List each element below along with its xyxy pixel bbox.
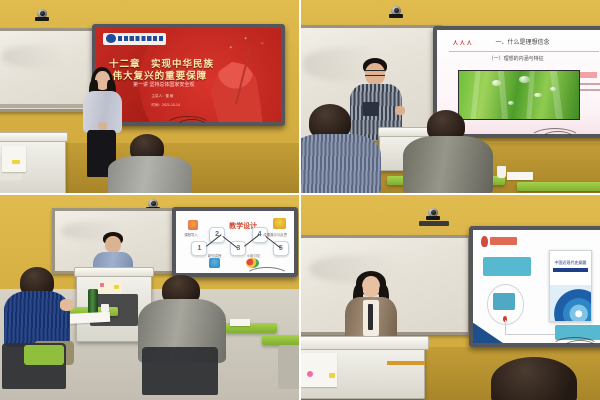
header-band	[490, 237, 517, 244]
dove-icon: ✧	[260, 41, 264, 47]
green-thermos	[88, 289, 98, 314]
paper-cup	[497, 166, 506, 178]
head	[491, 357, 577, 400]
divider	[449, 51, 599, 52]
hand	[60, 299, 74, 311]
slide-presenter: 主讲人：董 敏	[152, 94, 174, 99]
slide-heading: 一、什么是理想信念	[495, 37, 549, 46]
slide-side-note	[580, 72, 600, 99]
node-caption: 课程导入	[184, 232, 198, 237]
pin-icon	[481, 236, 487, 247]
observer-back-2	[403, 110, 493, 193]
glasses-icon	[365, 70, 385, 76]
handout-paper	[2, 146, 26, 172]
slide-material-blue: 中国近现代史纲要	[473, 230, 600, 343]
connector-line	[505, 334, 562, 335]
display-screen: 教学设计 课程导入 1 2 3 4 5 新知讲授 小组讨论 成果展示与反思	[176, 211, 294, 273]
student-desk	[517, 182, 600, 191]
handout-paper	[230, 319, 250, 326]
illustration-icon	[273, 218, 286, 229]
sticky-note	[100, 283, 104, 287]
camera-mount	[419, 221, 449, 226]
sticky-note-sheet	[301, 353, 337, 387]
display-cable	[541, 131, 575, 147]
chip-label	[493, 293, 515, 310]
panel-top-right: ⋏⋏⋏ 一、什么是理想信念 （一）理想的内涵与特征	[301, 0, 600, 193]
display-cable	[563, 340, 597, 356]
sticky-note	[307, 371, 313, 377]
slide-subheading: （一）理想的内涵与特征	[489, 55, 544, 62]
interactive-display[interactable]: 教学设计 课程导入 1 2 3 4 5 新知讲授 小组讨论 成果展示与反思	[172, 207, 298, 277]
sticky-note	[12, 160, 20, 164]
hands	[98, 122, 107, 130]
display-cable	[176, 119, 208, 135]
office-chair	[142, 347, 218, 395]
sticky-note	[329, 373, 335, 378]
interactive-display[interactable]: 中国近现代史纲要	[469, 226, 600, 347]
slide-flow-diagram: 教学设计 课程导入 1 2 3 4 5 新知讲授 小组讨论 成果展示与反思	[176, 211, 294, 273]
dark-blue-shirt	[4, 291, 70, 347]
panel-bottom-left: 教学设计 课程导入 1 2 3 4 5 新知讲授 小组讨论 成果展示与反思	[0, 195, 299, 400]
dove-icon: ✦	[229, 45, 233, 51]
illustration-icon	[209, 258, 220, 268]
notebook	[507, 172, 533, 180]
display-cable	[245, 267, 289, 285]
panel-top-left: 十二章 实现中华民族 伟大复兴的重要保障 第一讲 坚持总体国家安全观 主讲人：董…	[0, 0, 299, 193]
student-desk	[262, 335, 299, 345]
school-logo	[103, 33, 166, 45]
slide-header	[481, 236, 516, 247]
illustration-icon	[188, 220, 199, 231]
corner-accent	[473, 323, 503, 343]
grey-suit	[108, 156, 192, 193]
node-caption: 成果展示与反思	[263, 232, 287, 237]
dove-icon: ✦	[244, 36, 248, 42]
panel-bottom-right: 中国近现代史纲要	[301, 195, 600, 400]
node-number: 1	[197, 245, 201, 252]
birds-decoration-icon: ⋏⋏⋏	[452, 38, 473, 47]
grey-jacket	[403, 136, 493, 193]
blue-striped-shirt	[301, 134, 381, 193]
flow-node-1: 1	[191, 241, 207, 257]
attendee-foreground	[491, 357, 577, 400]
photo-collage: 十二章 实现中华民族 伟大复兴的重要保障 第一讲 坚持总体国家安全观 主讲人：董…	[0, 0, 600, 400]
illustration-icon	[246, 258, 259, 268]
observer-back-1	[108, 134, 192, 193]
ptz-camera-icon	[389, 5, 403, 18]
chair-seat	[24, 345, 64, 365]
side-tag	[580, 72, 597, 78]
ptz-camera-icon	[35, 8, 49, 21]
caption-box	[483, 257, 532, 276]
head	[105, 236, 121, 253]
office-chair	[278, 345, 299, 389]
observer-back-1	[301, 104, 381, 193]
slide-line-3: 第一讲 坚持总体国家安全观	[133, 81, 194, 88]
textbook-cover: 中国近现代史纲要	[549, 250, 592, 322]
necktie	[368, 304, 373, 330]
ptz-camera-icon	[426, 207, 440, 220]
lectern-edge	[387, 361, 425, 365]
connector-line	[505, 320, 506, 334]
head	[362, 276, 380, 297]
slide-date: 时间：2021-10-14	[152, 103, 180, 108]
sticky-note	[114, 285, 119, 289]
display-screen: 中国近现代史纲要	[473, 230, 600, 343]
book-title: 中国近现代史纲要	[554, 260, 587, 266]
